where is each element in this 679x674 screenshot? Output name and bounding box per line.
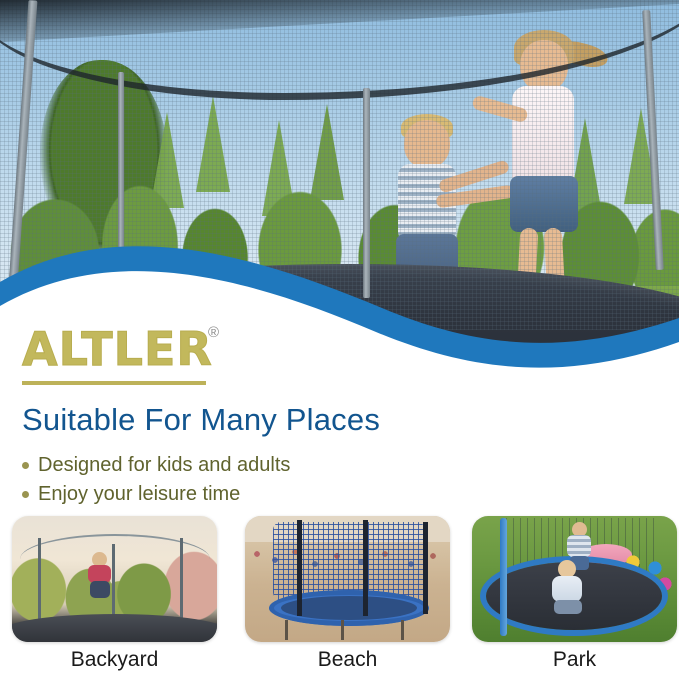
place-caption: Park — [472, 648, 677, 672]
bullet-text: Enjoy your leisure time — [38, 483, 240, 506]
backyard-net-pole — [180, 538, 183, 624]
place-card-park: Park — [472, 516, 677, 672]
place-caption: Backyard — [12, 648, 217, 672]
child-shirt — [552, 576, 582, 602]
backyard-net-pole — [38, 538, 41, 624]
place-card-beach: Beach — [245, 516, 450, 672]
beach-trampoline-legs — [275, 620, 425, 640]
list-item: Enjoy your leisure time — [22, 483, 290, 506]
marketing-banner: ALTLER ® Suitable For Many Places Design… — [0, 0, 679, 674]
feature-bullet-list: Designed for kids and adults Enjoy your … — [22, 454, 290, 512]
backyard-trampoline-mat — [12, 614, 217, 642]
bullet-dot-icon — [22, 462, 29, 469]
place-card-backyard: Backyard — [12, 516, 217, 672]
child-pants — [90, 581, 110, 598]
child-shorts — [554, 600, 582, 614]
beach-net-pole — [423, 522, 428, 614]
page-title: Suitable For Many Places — [22, 402, 380, 438]
child-shirt — [567, 535, 591, 557]
place-thumbnail-backyard — [12, 516, 217, 642]
backyard-jumping-child — [84, 552, 114, 600]
brand-name: ALTLER — [22, 326, 272, 372]
park-net-pole — [500, 518, 507, 636]
place-thumbnail-park — [472, 516, 677, 642]
bullet-dot-icon — [22, 491, 29, 498]
beach-safety-net — [273, 522, 425, 600]
bullet-text: Designed for kids and adults — [38, 454, 290, 477]
park-sitting-child — [546, 560, 588, 618]
brand-underline — [22, 381, 206, 385]
registered-trademark-icon: ® — [208, 324, 219, 341]
place-thumbnail-beach — [245, 516, 450, 642]
list-item: Designed for kids and adults — [22, 454, 290, 477]
beach-net-pole — [297, 520, 302, 616]
beach-net-pole — [363, 520, 368, 616]
content-area: ALTLER ® Suitable For Many Places Design… — [0, 318, 679, 674]
brand-logo: ALTLER ® — [22, 326, 272, 396]
place-caption: Beach — [245, 648, 450, 672]
places-gallery: Backyard Beach — [0, 516, 679, 674]
